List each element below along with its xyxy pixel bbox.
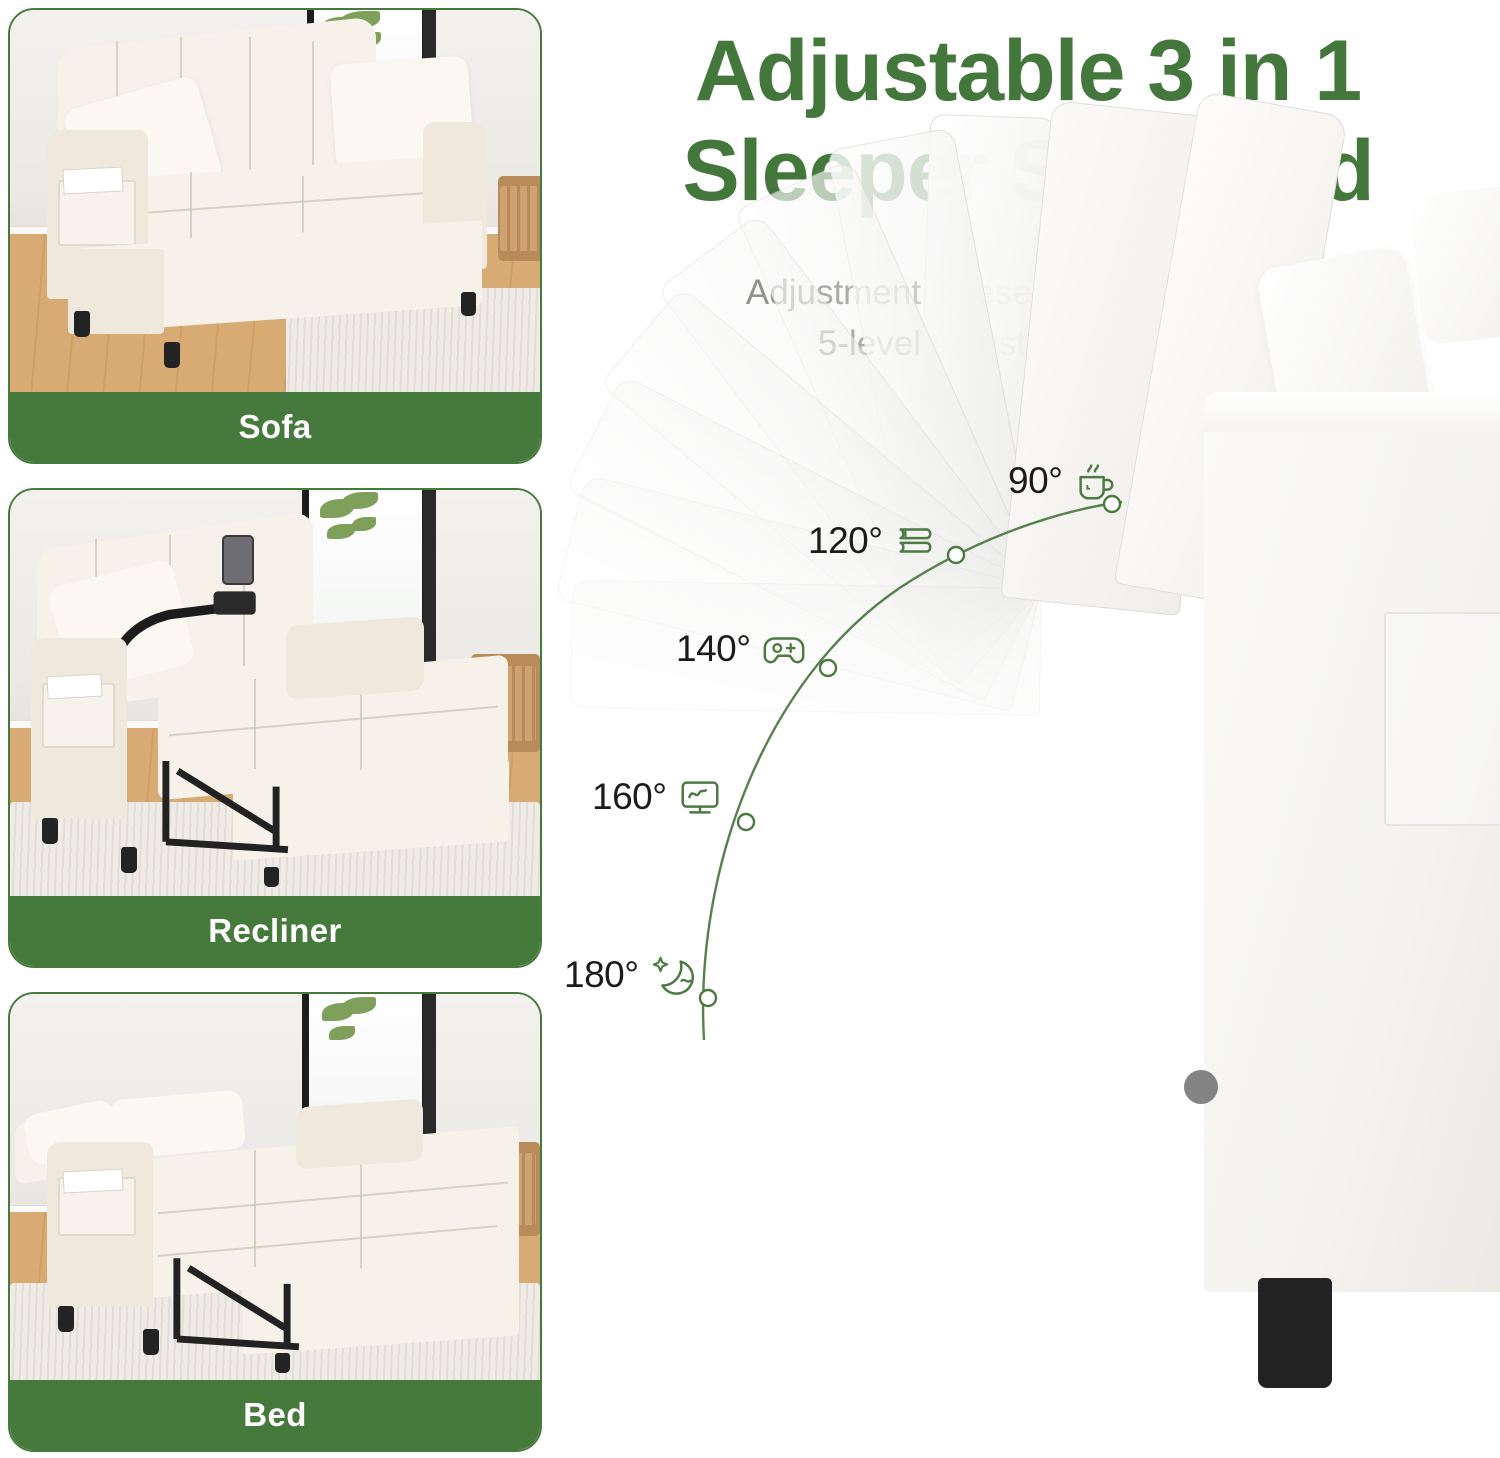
mode-card-bed[interactable]: Bed [8,992,542,1452]
sofa-leg [1258,1278,1332,1388]
angle-node-120 [948,547,964,563]
angle-label-160: 160° [592,776,667,818]
angle-marker-180[interactable]: 180° [564,952,695,998]
sofa-photo [10,10,540,396]
angle-label-140: 140° [676,628,751,670]
headline-line-1: Adjustable 3 in 1 [556,22,1500,122]
angle-arc [556,440,1500,1080]
page-subtitle: Adjustment loveseat converts to bed 5-le… [556,268,1500,370]
angle-node-160 [738,814,754,830]
mode-card-bed-label: Bed [10,1380,540,1450]
subheadline-line-2: 5-level Adjustable Backrest [556,319,1500,370]
mode-card-sofa[interactable]: Sofa [8,8,542,464]
angle-label-180: 180° [564,954,639,996]
subheadline-line-1: Adjustment loveseat converts to bed [556,268,1500,319]
angle-node-140 [820,660,836,676]
page-title: Adjustable 3 in 1 Sleeper Sofa Bed [556,22,1500,222]
recliner-photo [10,490,540,900]
mode-card-recliner-label: Recliner [10,896,540,966]
gamepad-icon [761,626,807,672]
tv-monitor-icon [677,774,723,820]
angle-node-180 [700,990,716,1006]
phone-icon [222,535,254,585]
coffee-cup-icon [1072,458,1118,504]
mode-card-recliner[interactable]: Recliner [8,488,542,968]
recline-angle-diagram: 90° 120° 140° [556,440,1500,1080]
right-panel: Adjustable 3 in 1 Sleeper Sofa Bed Adjus… [556,0,1500,1458]
angle-label-90: 90° [1008,460,1062,502]
angle-marker-90[interactable]: 90° [1008,458,1118,504]
angle-marker-160[interactable]: 160° [592,774,723,820]
moon-sleep-icon [649,952,695,998]
mode-card-list: Sofa [8,8,546,1452]
bed-frame-icon [169,1244,307,1353]
books-icon [893,518,939,564]
mode-card-sofa-label: Sofa [10,392,540,462]
bed-photo [10,994,540,1384]
angle-label-120: 120° [808,520,883,562]
angle-marker-140[interactable]: 140° [676,626,807,672]
angle-marker-120[interactable]: 120° [808,518,939,564]
headline-line-2: Sleeper Sofa Bed [556,122,1500,222]
bed-frame-icon [158,744,296,859]
